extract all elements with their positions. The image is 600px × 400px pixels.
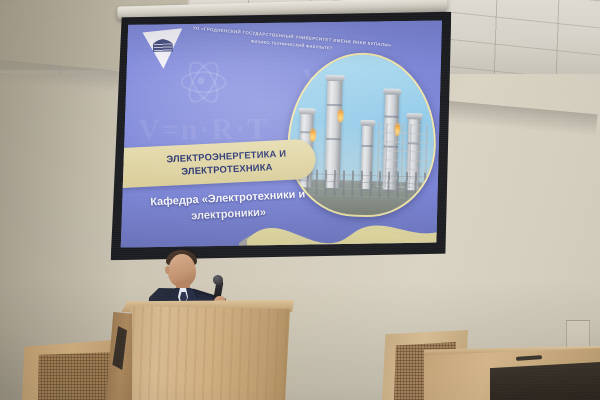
projection-screen: V=n·R·T V=n·R·T УО «ГРОДНЕНСКИЙ ГОСУДАРС… bbox=[111, 4, 454, 266]
tower-cap bbox=[326, 75, 345, 82]
atom-nucleus bbox=[198, 77, 205, 84]
podium bbox=[124, 306, 290, 400]
flare-flame bbox=[337, 108, 343, 122]
university-logo-icon bbox=[142, 28, 183, 69]
tower-band bbox=[327, 104, 342, 106]
atom-orbit-3 bbox=[182, 57, 224, 108]
screen-surface: V=n·R·T V=n·R·T УО «ГРОДНЕНСКИЙ ГОСУДАРС… bbox=[119, 14, 443, 255]
tower-cap bbox=[383, 88, 401, 95]
atom-orbit-2 bbox=[183, 57, 225, 108]
tower-cap bbox=[406, 113, 422, 119]
tower-band bbox=[326, 138, 341, 140]
tower-band bbox=[362, 145, 373, 147]
tower-cap bbox=[360, 120, 375, 126]
presentation-slide: V=n·R·T V=n·R·T УО «ГРОДНЕНСКИЙ ГОСУДАРС… bbox=[119, 14, 443, 255]
slide-subtitle: Кафедра «Электротехники и электроники» bbox=[125, 186, 332, 229]
lecture-hall-photo: V=n·R·T V=n·R·T УО «ГРОДНЕНСКИЙ ГОСУДАРС… bbox=[0, 0, 600, 400]
tower-band bbox=[385, 115, 399, 117]
atom-orbit-1 bbox=[180, 71, 226, 93]
bench-rattan-panel bbox=[38, 352, 118, 400]
presenter-ear bbox=[165, 266, 170, 274]
cabinet-open-shelf bbox=[490, 362, 600, 400]
tower-cap bbox=[299, 108, 316, 114]
logo-emblem-lines bbox=[154, 44, 172, 52]
